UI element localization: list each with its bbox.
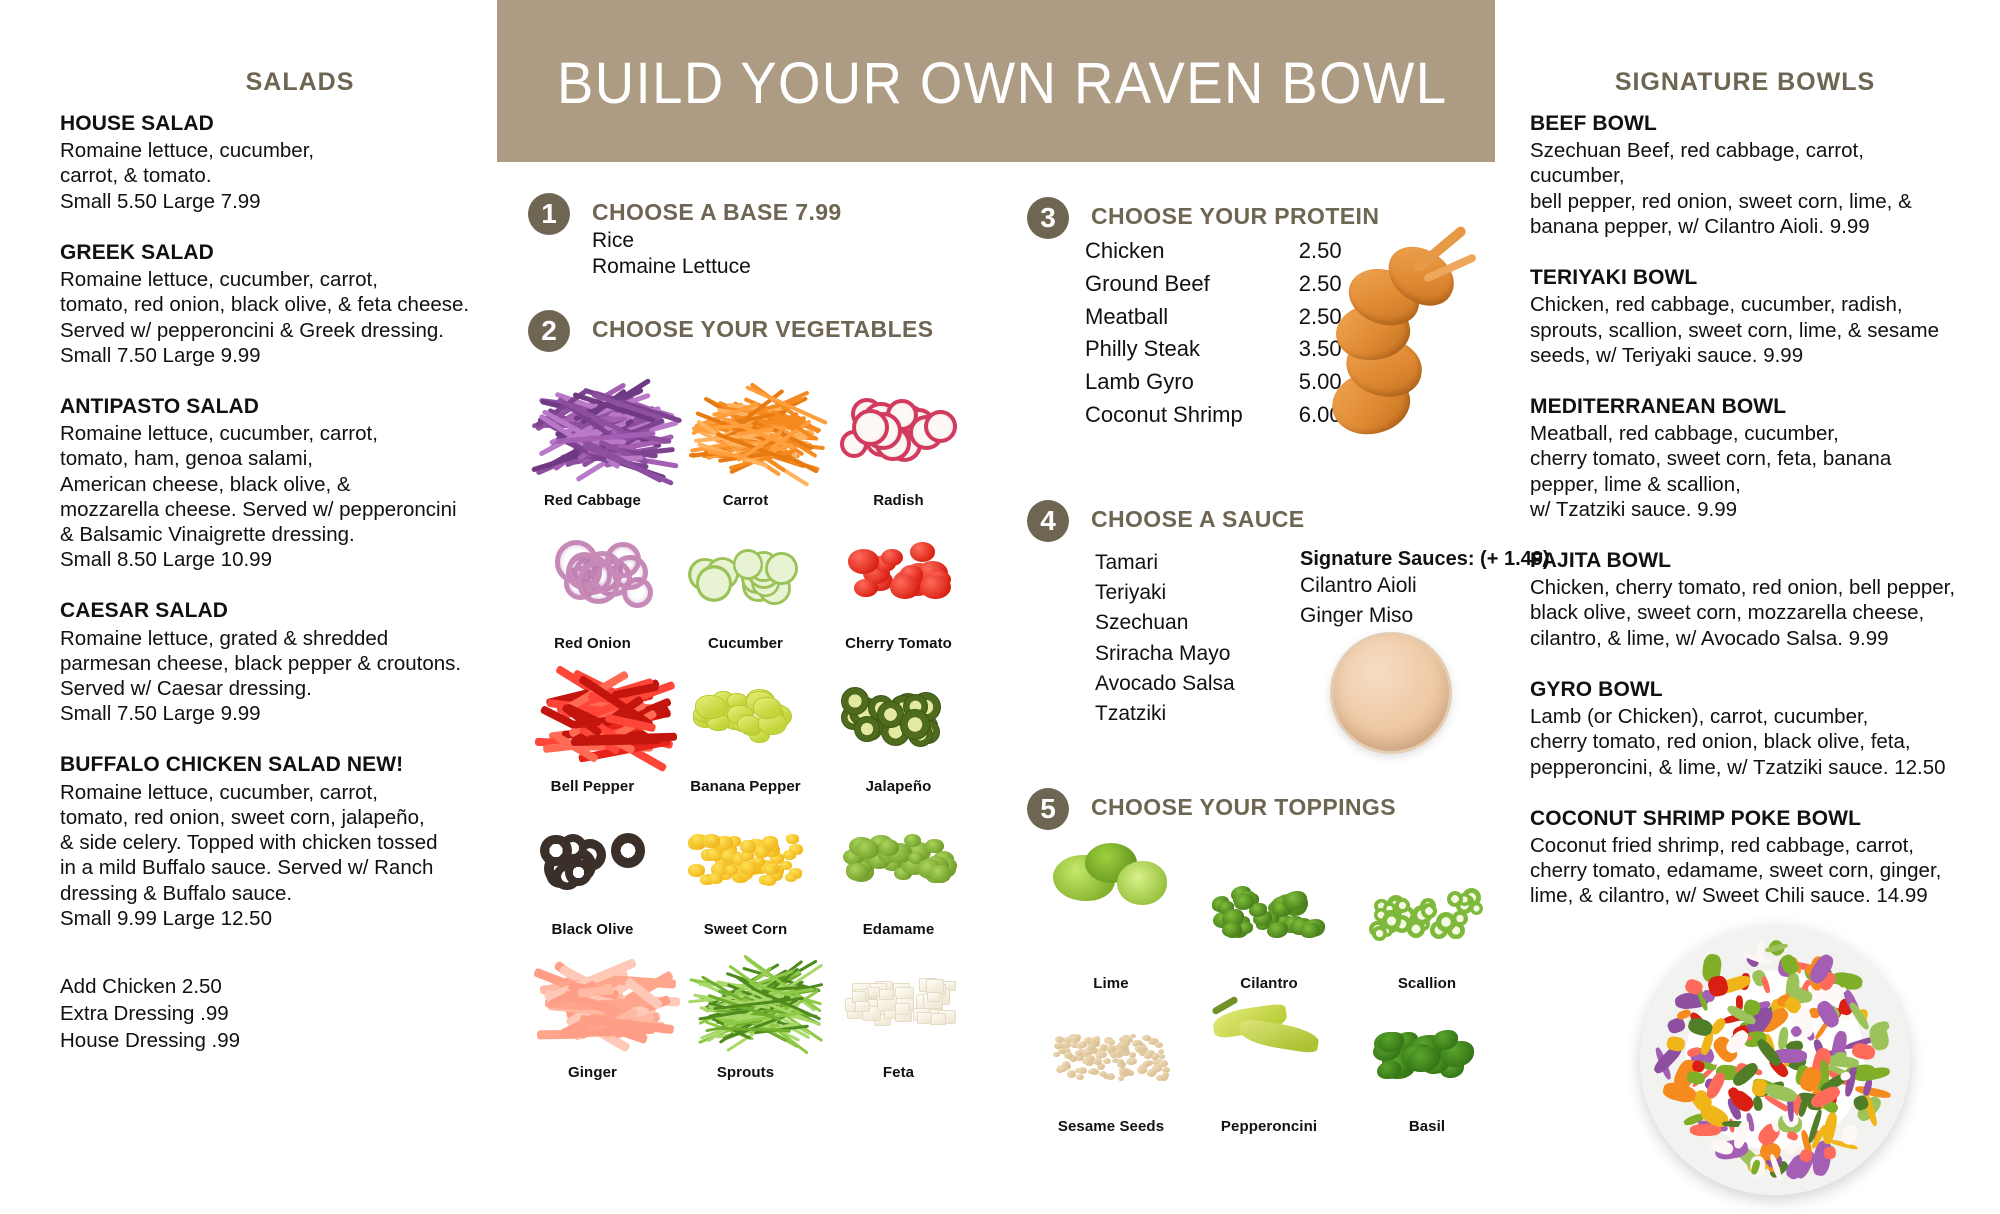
- topping-label: Sesame Seeds: [1058, 1118, 1164, 1141]
- sprouts-icon: [669, 944, 822, 1064]
- banner-title: BUILD YOUR OWN RAVEN BOWL: [557, 50, 1448, 117]
- salad-description-line: Small 7.50 Large 9.99: [60, 701, 480, 726]
- topping-cell[interactable]: Sesame Seeds: [1032, 998, 1190, 1141]
- topping-label: Scallion: [1398, 975, 1456, 998]
- signature-bowl-description: Szechuan Beef, red cabbage, carrot, cucu…: [1530, 138, 1960, 239]
- vegetable-cell[interactable]: Red Cabbage: [516, 372, 669, 515]
- step-3-title: CHOOSE YOUR PROTEIN: [1091, 203, 1379, 230]
- signature-bowls-column: SIGNATURE BOWLS BEEF BOWL Szechuan Beef,…: [1530, 68, 1960, 935]
- protein-name: Meatball: [1085, 302, 1243, 335]
- menu-page: SALADS HOUSE SALAD Romaine lettuce, cucu…: [0, 0, 2000, 1214]
- vegetable-label: Banana Pepper: [690, 778, 801, 801]
- salads-list: HOUSE SALAD Romaine lettuce, cucumber,ca…: [60, 111, 480, 931]
- sauce-section: TamariTeriyakiSzechuanSriracha MayoAvoca…: [1095, 548, 1525, 729]
- salad-description-line: Romaine lettuce, cucumber, carrot,: [60, 421, 480, 446]
- salad-description-line: Small 9.99 Large 12.50: [60, 906, 480, 931]
- salad-description-line: in a mild Buffalo sauce. Served w/ Ranch: [60, 855, 480, 880]
- vegetable-label: Red Onion: [554, 635, 631, 658]
- salad-description-line: Romaine lettuce, cucumber,: [60, 138, 480, 163]
- salad-description-line: Romaine lettuce, grated & shredded: [60, 626, 480, 651]
- salad-description-line: & side celery. Topped with chicken tosse…: [60, 830, 480, 855]
- vegetable-cell[interactable]: Black Olive: [516, 801, 669, 944]
- salad-item: BUFFALO CHICKEN SALAD NEW! Romaine lettu…: [60, 752, 480, 930]
- sauce-item: Tamari: [1095, 548, 1270, 578]
- salad-name: CAESAR SALAD: [60, 598, 480, 624]
- signature-sauce-item: Cilantro Aioli: [1300, 571, 1550, 601]
- carrot-icon: [669, 372, 822, 492]
- coconut-shrimp-photo: [1290, 250, 1495, 445]
- signature-bowl-name: MEDITERRANEAN BOWL: [1530, 394, 1960, 420]
- vegetable-label: Sprouts: [717, 1064, 774, 1087]
- salad-description-line: tomato, red onion, sweet corn, jalapeño,: [60, 805, 480, 830]
- step-3-choose-protein: 3 CHOOSE YOUR PROTEIN: [1027, 197, 1379, 239]
- vegetable-label: Cherry Tomato: [845, 635, 952, 658]
- topping-cell[interactable]: Cilantro: [1190, 855, 1348, 998]
- vegetable-grid: Red Cabbage Carrot Radish Red Onion Cucu…: [516, 372, 976, 1087]
- signature-bowl-item: MEDITERRANEAN BOWL Meatball, red cabbage…: [1530, 394, 1960, 522]
- bell-pepper-icon: [516, 658, 669, 778]
- signature-bowls-list: BEEF BOWL Szechuan Beef, red cabbage, ca…: [1530, 111, 1960, 909]
- vegetable-label: Radish: [873, 492, 924, 515]
- step-5-choose-toppings: 5 CHOOSE YOUR TOPPINGS: [1027, 788, 1396, 830]
- salad-description: Romaine lettuce, cucumber, carrot,tomato…: [60, 780, 480, 931]
- cherry-tomato-icon: [822, 515, 975, 635]
- signature-sauces-title: Signature Sauces: (+ 1.49): [1300, 548, 1550, 571]
- signature-bowl-description-line: Lamb (or Chicken), carrot, cucumber,: [1530, 704, 1960, 729]
- step-4-choose-sauce: 4 CHOOSE A SAUCE: [1027, 500, 1304, 542]
- signature-bowl-description: Chicken, red cabbage, cucumber, radish,s…: [1530, 292, 1960, 368]
- step-2-badge: 2: [528, 310, 570, 352]
- signature-bowl-description: Lamb (or Chicken), carrot, cucumber,cher…: [1530, 704, 1960, 780]
- step-1-title: CHOOSE A BASE 7.99: [592, 199, 842, 226]
- sauce-item: Szechuan: [1095, 608, 1270, 638]
- topping-label: Pepperoncini: [1221, 1118, 1317, 1141]
- signature-bowl-description-line: bell pepper, red onion, sweet corn, lime…: [1530, 189, 1960, 214]
- signature-bowl-description-line: pepperoncini, & lime, w/ Tzatziki sauce.…: [1530, 755, 1960, 780]
- vegetable-cell[interactable]: Cucumber: [669, 515, 822, 658]
- signature-bowl-description-line: Chicken, red cabbage, cucumber, radish,: [1530, 292, 1960, 317]
- salad-description-line: Small 7.50 Large 9.99: [60, 343, 480, 368]
- topping-label: Lime: [1093, 975, 1128, 998]
- topping-cell[interactable]: Lime: [1032, 855, 1190, 998]
- step-1-choose-base: 1 CHOOSE A BASE 7.99 RiceRomaine Lettuce: [528, 193, 842, 280]
- scallion-icon: [1348, 855, 1506, 975]
- signature-sauce-item: Ginger Miso: [1300, 601, 1550, 631]
- salad-description-line: Served w/ pepperoncini & Greek dressing.: [60, 318, 480, 343]
- protein-name: Chicken: [1085, 236, 1243, 269]
- ginger-icon: [516, 944, 669, 1064]
- step-1-badge: 1: [528, 193, 570, 235]
- signature-bowl-item: COCONUT SHRIMP POKE BOWL Coconut fried s…: [1530, 806, 1960, 909]
- vegetable-label: Ginger: [568, 1064, 617, 1087]
- salad-description-line: Romaine lettuce, cucumber, carrot,: [60, 780, 480, 805]
- topping-label: Basil: [1409, 1118, 1445, 1141]
- base-option: Rice: [592, 228, 842, 254]
- signature-bowl-item: GYRO BOWL Lamb (or Chicken), carrot, cuc…: [1530, 677, 1960, 780]
- vegetable-cell[interactable]: Ginger: [516, 944, 669, 1087]
- pepperoncini-icon: [1190, 998, 1348, 1118]
- salad-description-line: tomato, ham, genoa salami,: [60, 446, 480, 471]
- vegetable-cell[interactable]: Banana Pepper: [669, 658, 822, 801]
- topping-cell[interactable]: Pepperoncini: [1190, 998, 1348, 1141]
- vegetable-cell[interactable]: Jalapeño: [822, 658, 975, 801]
- salad-description-line: Small 8.50 Large 10.99: [60, 547, 480, 572]
- sauce-bowl-photo: [1330, 632, 1452, 754]
- vegetable-label: Black Olive: [552, 921, 634, 944]
- signature-bowls-heading: SIGNATURE BOWLS: [1530, 68, 1960, 97]
- signature-bowl-description: Chicken, cherry tomato, red onion, bell …: [1530, 575, 1960, 651]
- banner: BUILD YOUR OWN RAVEN BOWL: [497, 0, 1495, 162]
- vegetable-label: Sweet Corn: [704, 921, 788, 944]
- signature-bowl-name: BEEF BOWL: [1530, 111, 1960, 137]
- step-5-title: CHOOSE YOUR TOPPINGS: [1091, 794, 1396, 821]
- salad-description-line: & Balsamic Vinaigrette dressing.: [60, 522, 480, 547]
- protein-name: Lamb Gyro: [1085, 367, 1243, 400]
- salad-description: Romaine lettuce, cucumber, carrot,tomato…: [60, 267, 480, 368]
- topping-cell[interactable]: Basil: [1348, 998, 1506, 1141]
- signature-bowl-name: TERIYAKI BOWL: [1530, 265, 1960, 291]
- signature-sauces: Signature Sauces: (+ 1.49) Cilantro Aiol…: [1300, 548, 1550, 631]
- step-4-title: CHOOSE A SAUCE: [1091, 506, 1304, 533]
- salad-bowl-photo: [1640, 925, 1910, 1195]
- vegetable-cell[interactable]: Bell Pepper: [516, 658, 669, 801]
- step-1-options: RiceRomaine Lettuce: [592, 228, 842, 280]
- salad-item: GREEK SALAD Romaine lettuce, cucumber, c…: [60, 240, 480, 368]
- vegetable-cell[interactable]: Red Onion: [516, 515, 669, 658]
- step-3-badge: 3: [1027, 197, 1069, 239]
- salad-description-line: dressing & Buffalo sauce.: [60, 881, 480, 906]
- vegetable-cell[interactable]: Radish: [822, 372, 975, 515]
- salad-name: BUFFALO CHICKEN SALAD NEW!: [60, 752, 480, 778]
- vegetable-cell[interactable]: Feta: [822, 944, 975, 1087]
- cucumber-icon: [669, 515, 822, 635]
- sauce-list: TamariTeriyakiSzechuanSriracha MayoAvoca…: [1095, 548, 1270, 729]
- signature-bowl-description-line: cherry tomato, edamame, sweet corn, ging…: [1530, 858, 1960, 883]
- signature-bowl-description-line: lime, & cilantro, w/ Sweet Chili sauce. …: [1530, 883, 1960, 908]
- cilantro-icon: [1190, 855, 1348, 975]
- signature-bowl-description-line: cherry tomato, red onion, black olive, f…: [1530, 729, 1960, 754]
- signature-bowl-description: Coconut fried shrimp, red cabbage, carro…: [1530, 833, 1960, 909]
- topping-label: Cilantro: [1240, 975, 1297, 998]
- step-2-choose-vegetables: 2 CHOOSE YOUR VEGETABLES: [528, 310, 934, 352]
- jalapeno-icon: [822, 658, 975, 778]
- sauce-item: Teriyaki: [1095, 578, 1270, 608]
- vegetable-label: Edamame: [863, 921, 935, 944]
- vegetable-label: Cucumber: [708, 635, 783, 658]
- salad-description: Romaine lettuce, cucumber, carrot,tomato…: [60, 421, 480, 572]
- salad-item: CAESAR SALAD Romaine lettuce, grated & s…: [60, 598, 480, 726]
- signature-bowl-item: BEEF BOWL Szechuan Beef, red cabbage, ca…: [1530, 111, 1960, 239]
- salad-description-line: Small 5.50 Large 7.99: [60, 189, 480, 214]
- vegetable-cell[interactable]: Edamame: [822, 801, 975, 944]
- protein-name: Coconut Shrimp: [1085, 400, 1243, 433]
- signature-bowl-description-line: pepper, lime & scallion,: [1530, 472, 1960, 497]
- signature-bowl-description-line: cherry tomato, sweet corn, feta, banana: [1530, 446, 1960, 471]
- step-4-badge: 4: [1027, 500, 1069, 542]
- signature-bowl-item: TERIYAKI BOWL Chicken, red cabbage, cucu…: [1530, 265, 1960, 368]
- salad-addon-line: Extra Dressing .99: [60, 1000, 480, 1027]
- step-2-title: CHOOSE YOUR VEGETABLES: [592, 316, 934, 343]
- vegetable-label: Red Cabbage: [544, 492, 641, 515]
- step-5-badge: 5: [1027, 788, 1069, 830]
- signature-bowl-description-line: Coconut fried shrimp, red cabbage, carro…: [1530, 833, 1960, 858]
- signature-bowl-name: GYRO BOWL: [1530, 677, 1960, 703]
- vegetable-label: Jalapeño: [866, 778, 932, 801]
- salad-addons: Add Chicken 2.50Extra Dressing .99House …: [60, 973, 480, 1055]
- signature-bowl-description-line: Szechuan Beef, red cabbage, carrot, cucu…: [1530, 138, 1960, 188]
- radish-icon: [822, 372, 975, 492]
- salad-addon-line: House Dressing .99: [60, 1027, 480, 1054]
- sweet-corn-icon: [669, 801, 822, 921]
- sesame-seeds-icon: [1032, 998, 1190, 1118]
- sauce-item: Avocado Salsa: [1095, 669, 1270, 699]
- salad-item: ANTIPASTO SALAD Romaine lettuce, cucumbe…: [60, 394, 480, 572]
- protein-name: Philly Steak: [1085, 334, 1243, 367]
- banana-pepper-icon: [669, 658, 822, 778]
- salad-addon-line: Add Chicken 2.50: [60, 973, 480, 1000]
- signature-bowl-description-line: banana pepper, w/ Cilantro Aioli. 9.99: [1530, 214, 1960, 239]
- signature-bowl-item: FAJITA BOWL Chicken, cherry tomato, red …: [1530, 548, 1960, 651]
- vegetable-label: Carrot: [723, 492, 769, 515]
- salad-description-line: carrot, & tomato.: [60, 163, 480, 188]
- protein-name: Ground Beef: [1085, 269, 1243, 302]
- black-olive-icon: [516, 801, 669, 921]
- salad-description: Romaine lettuce, cucumber,carrot, & toma…: [60, 138, 480, 214]
- salad-description-line: Served w/ Caesar dressing.: [60, 676, 480, 701]
- salad-name: GREEK SALAD: [60, 240, 480, 266]
- edamame-icon: [822, 801, 975, 921]
- lime-icon: [1032, 855, 1190, 975]
- salad-name: ANTIPASTO SALAD: [60, 394, 480, 420]
- salads-heading: SALADS: [60, 68, 480, 97]
- salad-description: Romaine lettuce, grated & shreddedparmes…: [60, 626, 480, 727]
- sauce-item: Tzatziki: [1095, 699, 1270, 729]
- basil-icon: [1348, 998, 1506, 1118]
- red-onion-icon: [516, 515, 669, 635]
- signature-bowl-description-line: black olive, sweet corn, mozzarella chee…: [1530, 600, 1960, 625]
- signature-bowl-name: FAJITA BOWL: [1530, 548, 1960, 574]
- salad-description-line: American cheese, black olive, &: [60, 472, 480, 497]
- salad-item: HOUSE SALAD Romaine lettuce, cucumber,ca…: [60, 111, 480, 214]
- vegetable-label: Bell Pepper: [551, 778, 635, 801]
- base-option: Romaine Lettuce: [592, 254, 842, 280]
- feta-icon: [822, 944, 975, 1064]
- signature-bowl-description-line: w/ Tzatziki sauce. 9.99: [1530, 497, 1960, 522]
- vegetable-cell[interactable]: Sprouts: [669, 944, 822, 1087]
- signature-bowl-description-line: Meatball, red cabbage, cucumber,: [1530, 421, 1960, 446]
- red-cabbage-icon: [516, 372, 669, 492]
- sauce-item: Sriracha Mayo: [1095, 639, 1270, 669]
- signature-bowl-description-line: seeds, w/ Teriyaki sauce. 9.99: [1530, 343, 1960, 368]
- salad-description-line: tomato, red onion, black olive, & feta c…: [60, 292, 480, 317]
- signature-sauces-list: Cilantro AioliGinger Miso: [1300, 571, 1550, 631]
- salad-description-line: Romaine lettuce, cucumber, carrot,: [60, 267, 480, 292]
- vegetable-cell[interactable]: Cherry Tomato: [822, 515, 975, 658]
- vegetable-cell[interactable]: Carrot: [669, 372, 822, 515]
- topping-cell[interactable]: Scallion: [1348, 855, 1506, 998]
- salad-description-line: parmesan cheese, black pepper & croutons…: [60, 651, 480, 676]
- signature-bowl-name: COCONUT SHRIMP POKE BOWL: [1530, 806, 1960, 832]
- salad-name: HOUSE SALAD: [60, 111, 480, 137]
- vegetable-label: Feta: [883, 1064, 914, 1087]
- signature-bowl-description-line: sprouts, scallion, sweet corn, lime, & s…: [1530, 318, 1960, 343]
- toppings-grid: Lime Cilantro Scallion Sesame Seeds P: [1032, 855, 1412, 1141]
- signature-bowl-description-line: cilantro, & lime, w/ Avocado Salsa. 9.99: [1530, 626, 1960, 651]
- salads-column: SALADS HOUSE SALAD Romaine lettuce, cucu…: [60, 68, 480, 1055]
- vegetable-cell[interactable]: Sweet Corn: [669, 801, 822, 944]
- signature-bowl-description: Meatball, red cabbage, cucumber,cherry t…: [1530, 421, 1960, 522]
- signature-bowl-description-line: Chicken, cherry tomato, red onion, bell …: [1530, 575, 1960, 600]
- salad-description-line: mozzarella cheese. Served w/ pepperoncin…: [60, 497, 480, 522]
